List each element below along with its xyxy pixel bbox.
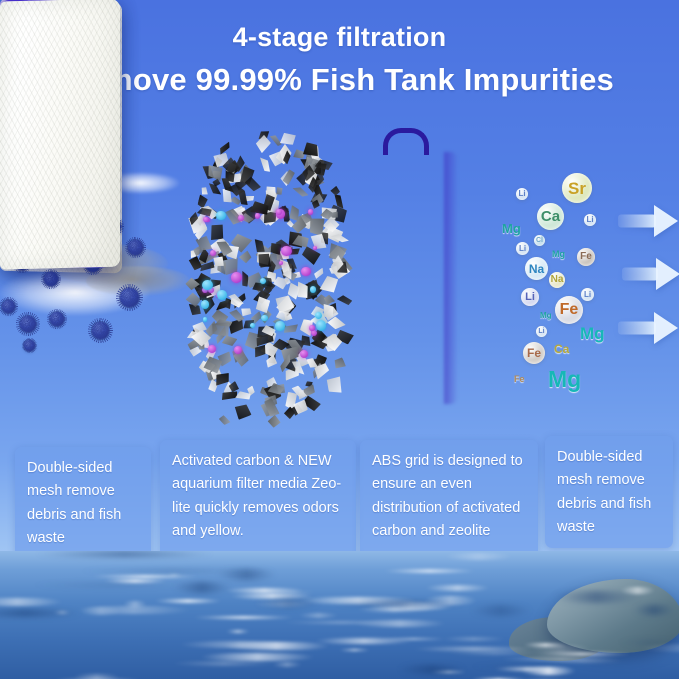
odor-particle — [309, 325, 315, 331]
zeolite-granule — [222, 336, 238, 347]
water-ripple — [414, 648, 538, 650]
water-ripple — [383, 569, 476, 573]
zeolite-granule — [218, 414, 231, 427]
arrow-tail — [618, 215, 656, 228]
mineral-bubble-sr: Sr — [562, 173, 592, 203]
debris-particle — [92, 322, 109, 339]
zeolite-granule — [200, 186, 209, 196]
zeolite-granule — [324, 375, 346, 398]
water-ripple — [521, 667, 576, 675]
caption-box-stage-4: Double-sided mesh remove debris and fish… — [545, 436, 673, 548]
zeolite-granule — [263, 354, 279, 371]
water-ripple — [80, 607, 121, 615]
zeolite-granule — [283, 322, 300, 334]
zeolite-granule — [280, 132, 296, 144]
mineral-bubble-fe: Fe — [523, 342, 545, 364]
water-ripple — [523, 643, 568, 647]
odor-particle — [231, 272, 242, 283]
flow-arrow-3 — [618, 312, 678, 344]
water-shadow — [30, 583, 190, 587]
carbon-granule — [336, 294, 353, 306]
water-ripple — [0, 598, 63, 606]
water-shadow — [77, 569, 268, 573]
mineral-bubble-cl: Cl — [534, 235, 545, 246]
water-shadow — [633, 605, 675, 615]
water-ripple — [193, 616, 294, 619]
water-ripple — [425, 585, 490, 591]
water-ripple — [223, 642, 330, 650]
carbon-granule — [300, 246, 322, 266]
mineral-bubble-mg: Mg — [548, 368, 581, 391]
grid-shadow — [444, 152, 458, 404]
stage-2-granule-cloud — [186, 128, 338, 418]
debris-particle — [20, 316, 36, 332]
water-shadow — [469, 665, 566, 668]
odor-particle — [308, 209, 314, 215]
mineral-bubble-li: Li — [516, 188, 528, 200]
mineral-bubble-li: Li — [584, 214, 596, 226]
impurity-particle — [310, 286, 316, 292]
mineral-bubble-li: Li — [521, 288, 539, 306]
water-ripple — [154, 599, 222, 603]
odor-particle — [279, 261, 283, 265]
water-ripple — [339, 649, 370, 651]
water-ripple — [444, 553, 513, 560]
mineral-bubble-ca: Ca — [537, 203, 564, 230]
arrow-tail — [618, 322, 656, 335]
mineral-bubble-na: Na — [525, 257, 548, 280]
mineral-bubble-fe: Fe — [555, 296, 583, 324]
mineral-bubble-li: Li — [536, 326, 547, 337]
odor-particle — [300, 350, 309, 359]
mineral-bubble-mg: Mg — [552, 250, 565, 259]
mineral-bubble-mg: Mg — [580, 325, 605, 342]
mineral-bubble-mg: Mg — [540, 312, 552, 320]
mineral-bubble-li: Li — [516, 242, 529, 255]
zeolite-granule — [332, 356, 347, 371]
water-shadow — [552, 591, 641, 603]
impurity-particle — [316, 320, 327, 331]
water-shadow — [255, 598, 321, 608]
impurity-particle — [203, 317, 207, 321]
water-ripple — [380, 638, 447, 640]
grid-handle-icon — [383, 128, 429, 155]
water-ripple — [353, 620, 446, 627]
water-shadow — [470, 605, 532, 616]
odor-particle — [255, 213, 261, 219]
water-shadow — [618, 640, 679, 645]
water-ripple — [171, 661, 277, 666]
mineral-bubble-na: Na — [549, 272, 565, 288]
zeolite-granule — [312, 266, 325, 279]
water-ripple — [499, 657, 623, 661]
zeolite-granule — [267, 414, 282, 429]
caption-box-stage-1: Double-sided mesh remove debris and fish… — [15, 447, 151, 562]
flow-arrow-2 — [622, 258, 679, 290]
water-shadow — [0, 609, 82, 617]
water-ripple — [91, 575, 199, 578]
stage-4-mineral-pad-panel: LiSrCaMgLiLiClNaMgFeNaLiLiFeMgLiMgFeCaFe… — [0, 0, 120, 268]
mineral-bubble-layer: LiSrCaMgLiLiClNaMgFeNaLiLiFeMgLiMgFeCaFe… — [492, 140, 612, 408]
impurity-particle — [275, 321, 284, 330]
zeolite-granule — [320, 275, 339, 292]
odor-particle — [301, 267, 310, 276]
impurity-particle — [261, 315, 268, 322]
mineral-bubble-li: Li — [581, 288, 594, 301]
impurity-particle — [201, 300, 210, 309]
infographic-canvas: 4-stage filtration Remove 99.99% Fish Ta… — [0, 0, 679, 679]
mineral-bubble-fe: Fe — [514, 375, 525, 384]
arrow-head-icon — [654, 312, 678, 344]
zeolite-granule — [254, 134, 273, 154]
odor-particle — [313, 246, 318, 251]
impurity-particle — [250, 323, 255, 328]
carbon-granule — [231, 400, 253, 422]
odor-particle — [281, 246, 291, 256]
water-ripple — [441, 637, 506, 641]
debris-particle — [44, 272, 58, 286]
debris-particle — [24, 340, 35, 351]
arrow-tail — [622, 268, 658, 281]
debris-particle — [50, 312, 64, 326]
water-ripple — [272, 662, 302, 667]
mineral-bubble-fe: Fe — [577, 248, 595, 266]
arrow-head-icon — [654, 205, 678, 237]
debris-particle — [120, 288, 139, 307]
impurity-particle — [216, 211, 226, 221]
water-ripple — [531, 652, 632, 656]
water-ripple — [299, 613, 338, 618]
flow-arrow-1 — [618, 205, 678, 237]
carbon-granule — [330, 185, 342, 197]
impurity-particle — [260, 278, 266, 284]
water-ripple — [166, 574, 182, 576]
water-ripple — [123, 601, 147, 607]
debris-particle — [2, 300, 15, 313]
debris-particle — [128, 240, 143, 255]
water-shadow — [173, 582, 231, 593]
arrow-head-icon — [656, 258, 679, 290]
water-shadow — [333, 601, 466, 606]
mesh-pad-stage-4 — [0, 0, 120, 269]
odor-particle — [238, 215, 244, 221]
water-surface-photo — [0, 551, 679, 679]
water-ripple — [226, 630, 250, 633]
impurity-particle — [217, 290, 227, 300]
water-ripple — [200, 653, 315, 661]
mineral-bubble-mg: Mg — [502, 222, 521, 235]
zeolite-granule — [291, 184, 309, 199]
odor-particle — [203, 217, 208, 222]
mineral-bubble-ca: Ca — [554, 343, 569, 355]
water-ripple — [639, 644, 679, 652]
water-shadow — [398, 665, 466, 674]
water-shadow — [34, 551, 215, 557]
